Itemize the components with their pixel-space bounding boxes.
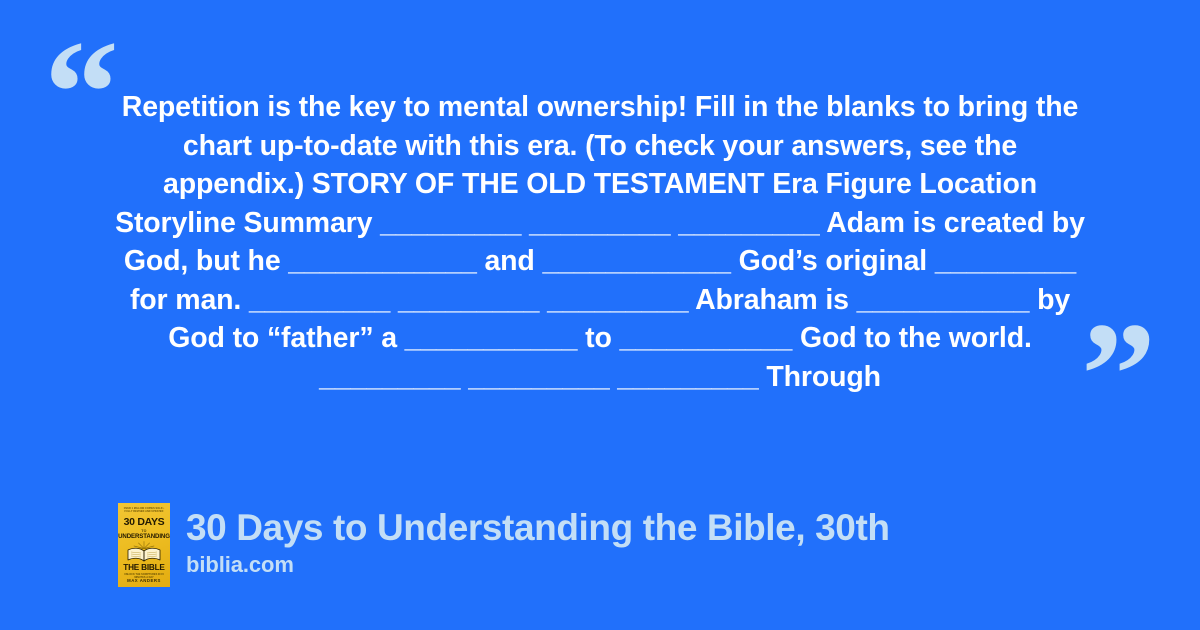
book-cover-top-blurb: OVER 1 MILLION COPIES SOLD • FULLY REVIS… — [121, 507, 167, 514]
footer: OVER 1 MILLION COPIES SOLD • FULLY REVIS… — [118, 503, 890, 587]
footer-text-block: 30 Days to Understanding the Bible, 30th… — [186, 503, 890, 578]
book-cover-image: OVER 1 MILLION COPIES SOLD • FULLY REVIS… — [118, 503, 170, 587]
book-cover-the-bible: THE BIBLE — [118, 563, 170, 572]
closing-quote-icon: ” — [1081, 300, 1156, 450]
book-cover-understanding: UNDERSTANDING — [118, 533, 170, 540]
book-title: 30 Days to Understanding the Bible, 30th — [186, 507, 890, 549]
book-cover-author: MAX ANDERS — [118, 578, 170, 583]
open-book-icon — [126, 541, 162, 563]
book-cover-days: 30 DAYS — [118, 517, 170, 528]
opening-quote-icon: “ — [44, 18, 119, 168]
site-name: biblia.com — [186, 552, 890, 578]
quote-card: “ Repetition is the key to mental owners… — [0, 0, 1200, 630]
book-cover-to: TO — [118, 529, 170, 533]
quote-text: Repetition is the key to mental ownershi… — [110, 88, 1090, 396]
